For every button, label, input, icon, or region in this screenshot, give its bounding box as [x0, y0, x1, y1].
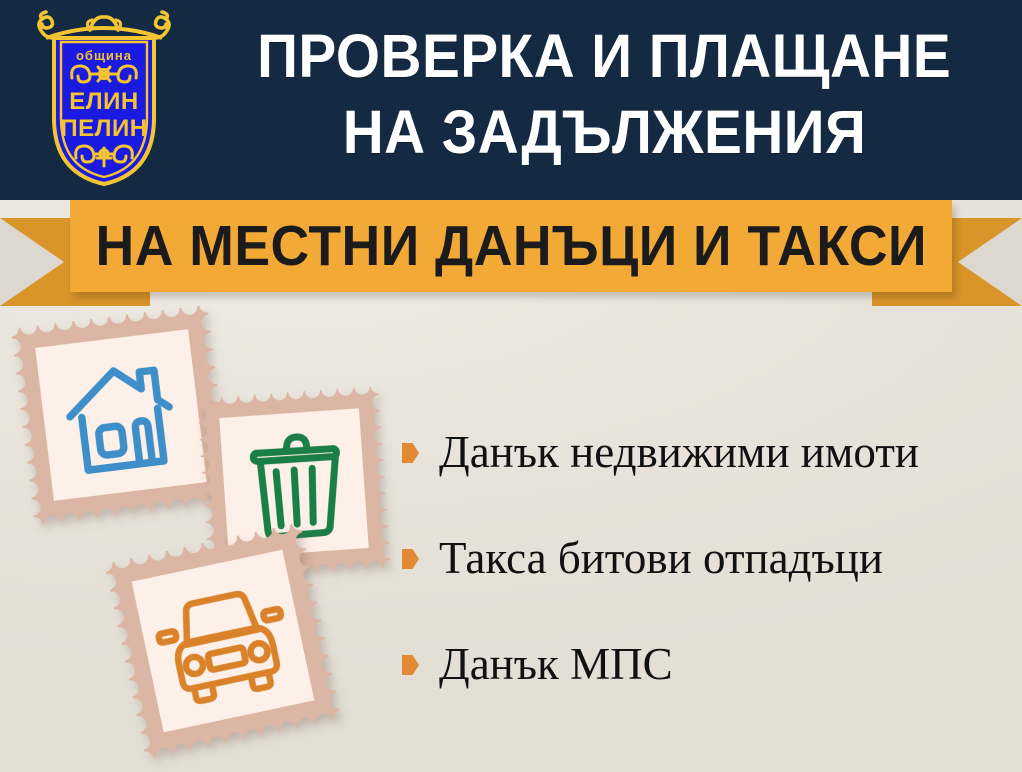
ribbon-label: НА МЕСТНИ ДАНЪЦИ И ТАКСИ: [95, 218, 926, 275]
bullet-arrow-icon: [402, 549, 419, 569]
svg-text:община: община: [76, 48, 132, 63]
svg-text:ЕЛИН: ЕЛИН: [69, 88, 138, 115]
title-line-2: НА ЗАДЪЛЖЕНИЯ: [342, 94, 866, 170]
ribbon-body: НА МЕСТНИ ДАНЪЦИ И ТАКСИ: [70, 200, 952, 292]
list-item[interactable]: Данък МПС: [402, 636, 1012, 692]
list-item-label: Такса битови отпадъци: [439, 532, 883, 584]
coat-of-arms-icon: община ЕЛИН ПЕЛИН: [24, 8, 184, 188]
header-bar: община ЕЛИН ПЕЛИН: [0, 0, 1022, 200]
poster-canvas: община ЕЛИН ПЕЛИН: [0, 0, 1022, 772]
title-line-1: ПРОВЕРКА И ПЛАЩАНЕ: [257, 18, 951, 94]
bullet-arrow-icon: [402, 655, 419, 675]
stamp-vehicle-tax: [104, 522, 341, 759]
poster-title: ПРОВЕРКА И ПЛАЩАНЕ НА ЗАДЪЛЖЕНИЯ: [196, 18, 1012, 178]
tax-type-list: Данък недвижими имоти Такса битови отпад…: [402, 424, 1012, 742]
svg-text:ПЕЛИН: ПЕЛИН: [60, 115, 147, 142]
bullet-arrow-icon: [402, 443, 419, 463]
list-item[interactable]: Данък недвижими имоти: [402, 424, 1012, 480]
ribbon-banner: НА МЕСТНИ ДАНЪЦИ И ТАКСИ: [0, 196, 1022, 306]
list-item[interactable]: Такса битови отпадъци: [402, 530, 1012, 586]
list-item-label: Данък недвижими имоти: [439, 426, 919, 478]
list-item-label: Данък МПС: [439, 638, 673, 690]
